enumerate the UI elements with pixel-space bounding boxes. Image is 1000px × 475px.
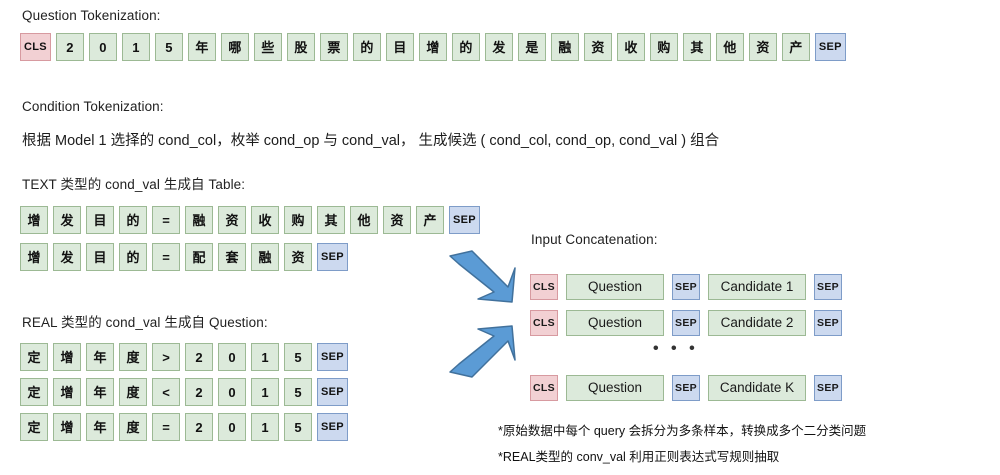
token-cell: 1 (251, 413, 279, 441)
token-cell: 0 (218, 378, 246, 406)
real-type-heading: REAL 类型的 cond_val 生成自 Question: (22, 311, 268, 331)
token-cell: 2 (185, 413, 213, 441)
input-concatenation-heading: Input Concatenation: (531, 232, 658, 247)
token-cell: 2 (185, 343, 213, 371)
sep-token: SEP (815, 33, 846, 61)
cls-block: CLS (530, 310, 558, 336)
token-cell: 1 (122, 33, 150, 61)
concat-row: CLSQuestionSEPCandidate KSEP (530, 375, 842, 401)
arrow-down-right-icon (446, 250, 518, 306)
token-cell: 增 (419, 33, 447, 61)
token-cell: 2 (185, 378, 213, 406)
token-cell: 其 (317, 206, 345, 234)
token-cell: 产 (416, 206, 444, 234)
token-cell: 的 (119, 206, 147, 234)
token-cell: 他 (716, 33, 744, 61)
token-cell: 的 (353, 33, 381, 61)
text-type-token-row: 增发目的=融资收购其他资产SEP (20, 206, 480, 234)
token-cell: 度 (119, 413, 147, 441)
token-cell: 年 (86, 343, 114, 371)
token-cell: 的 (119, 243, 147, 271)
sep-block: SEP (814, 310, 842, 336)
token-cell: < (152, 378, 180, 406)
token-cell: 资 (218, 206, 246, 234)
token-cell: 增 (20, 243, 48, 271)
real-type-token-row: 定增年度>2015SEP (20, 343, 348, 371)
real-type-token-row: 定增年度=2015SEP (20, 413, 348, 441)
ellipsis-separator: • • • (653, 340, 699, 358)
sep-token: SEP (317, 343, 348, 371)
question-block: Question (566, 375, 664, 401)
token-cell: 定 (20, 413, 48, 441)
token-cell: 是 (518, 33, 546, 61)
sep-block: SEP (672, 375, 700, 401)
sep-block: SEP (814, 375, 842, 401)
token-cell: 融 (251, 243, 279, 271)
token-cell: 收 (617, 33, 645, 61)
token-cell: 增 (53, 413, 81, 441)
token-cell: = (152, 206, 180, 234)
token-cell: 配 (185, 243, 213, 271)
sep-token: SEP (317, 378, 348, 406)
token-cell: 资 (383, 206, 411, 234)
token-cell: 购 (650, 33, 678, 61)
token-cell: 1 (251, 343, 279, 371)
token-cell: 增 (53, 378, 81, 406)
token-cell: 些 (254, 33, 282, 61)
cls-token: CLS (20, 33, 51, 61)
token-cell: 资 (584, 33, 612, 61)
token-cell: 票 (320, 33, 348, 61)
cls-block: CLS (530, 274, 558, 300)
token-cell: 资 (284, 243, 312, 271)
token-cell: 增 (53, 343, 81, 371)
token-cell: 1 (251, 378, 279, 406)
token-cell: 购 (284, 206, 312, 234)
token-cell: 发 (53, 243, 81, 271)
token-cell: 定 (20, 378, 48, 406)
token-cell: 度 (119, 378, 147, 406)
token-cell: 度 (119, 343, 147, 371)
sep-block: SEP (814, 274, 842, 300)
token-cell: 5 (284, 343, 312, 371)
token-cell: = (152, 413, 180, 441)
token-cell: 5 (284, 413, 312, 441)
token-cell: > (152, 343, 180, 371)
token-cell: 0 (89, 33, 117, 61)
token-cell: 5 (284, 378, 312, 406)
sep-token: SEP (317, 243, 348, 271)
token-cell: 0 (218, 413, 246, 441)
sep-token: SEP (449, 206, 480, 234)
question-block: Question (566, 274, 664, 300)
token-cell: 哪 (221, 33, 249, 61)
token-cell: 增 (20, 206, 48, 234)
token-cell: 定 (20, 343, 48, 371)
text-type-heading: TEXT 类型的 cond_val 生成自 Table: (22, 173, 245, 193)
token-cell: 的 (452, 33, 480, 61)
arrow-up-right-icon (446, 322, 518, 378)
concat-row: CLSQuestionSEPCandidate 1SEP (530, 274, 842, 300)
condition-tokenization-description: 根据 Model 1 选择的 cond_col，枚举 cond_op 与 con… (22, 129, 719, 150)
token-cell: 发 (53, 206, 81, 234)
token-cell: 套 (218, 243, 246, 271)
footnote-1: *原始数据中每个 query 会拆分为多条样本，转换成多个二分类问题 (498, 420, 866, 439)
token-cell: 股 (287, 33, 315, 61)
token-cell: 资 (749, 33, 777, 61)
token-cell: = (152, 243, 180, 271)
token-cell: 收 (251, 206, 279, 234)
sep-token: SEP (317, 413, 348, 441)
sep-block: SEP (672, 310, 700, 336)
token-cell: 2 (56, 33, 84, 61)
token-cell: 目 (386, 33, 414, 61)
text-type-token-row: 增发目的=配套融资SEP (20, 243, 348, 271)
condition-tokenization-heading: Condition Tokenization: (22, 99, 164, 114)
question-block: Question (566, 310, 664, 336)
token-cell: 年 (86, 413, 114, 441)
candidate-block: Candidate 2 (708, 310, 806, 336)
token-cell: 5 (155, 33, 183, 61)
sep-block: SEP (672, 274, 700, 300)
question-token-row: CLS2015年哪些股票的目增的发是融资收购其他资产SEP (20, 33, 846, 61)
candidate-block: Candidate K (708, 375, 806, 401)
token-cell: 融 (185, 206, 213, 234)
cls-block: CLS (530, 375, 558, 401)
question-tokenization-heading: Question Tokenization: (22, 8, 161, 23)
token-cell: 产 (782, 33, 810, 61)
token-cell: 目 (86, 243, 114, 271)
token-cell: 融 (551, 33, 579, 61)
concat-row: CLSQuestionSEPCandidate 2SEP (530, 310, 842, 336)
token-cell: 目 (86, 206, 114, 234)
token-cell: 年 (86, 378, 114, 406)
token-cell: 发 (485, 33, 513, 61)
token-cell: 0 (218, 343, 246, 371)
real-type-token-row: 定增年度<2015SEP (20, 378, 348, 406)
token-cell: 其 (683, 33, 711, 61)
candidate-block: Candidate 1 (708, 274, 806, 300)
footnote-2: *REAL类型的 conv_val 利用正则表达式写规则抽取 (498, 446, 779, 465)
token-cell: 年 (188, 33, 216, 61)
token-cell: 他 (350, 206, 378, 234)
